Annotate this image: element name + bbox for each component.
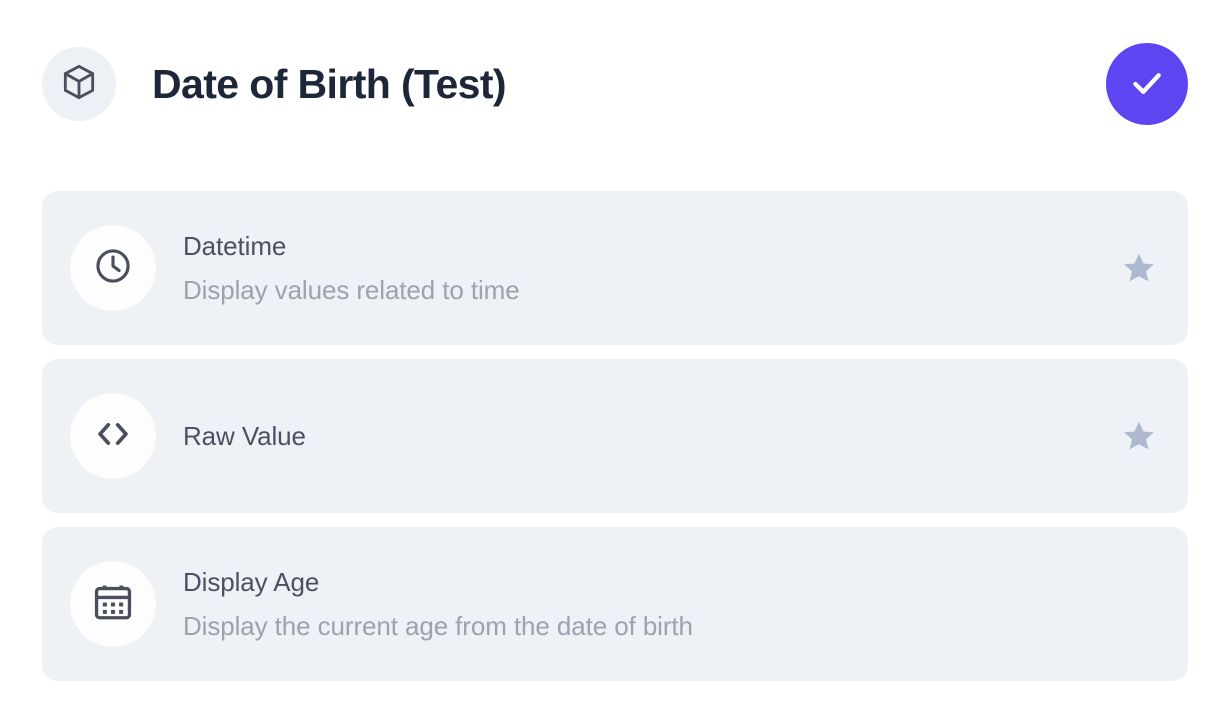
option-icon-container [70, 561, 156, 647]
code-brackets-icon [92, 413, 134, 460]
option-text-block: Display Age Display the current age from… [183, 566, 693, 643]
confirm-button[interactable] [1106, 43, 1188, 125]
cube-icon [59, 62, 99, 107]
option-item-datetime[interactable]: Datetime Display values related to time [42, 191, 1188, 345]
field-display-options-page: Date of Birth (Test) Datetime [0, 0, 1216, 704]
option-text-block: Raw Value [183, 420, 306, 453]
favorite-star-icon[interactable] [1120, 417, 1158, 455]
field-type-badge [42, 47, 116, 121]
option-icon-container [70, 393, 156, 479]
check-icon [1127, 63, 1167, 106]
calendar-icon [92, 581, 134, 628]
option-subtitle: Display the current age from the date of… [183, 610, 693, 643]
option-title: Display Age [183, 566, 693, 599]
option-item-raw-value[interactable]: Raw Value [42, 359, 1188, 513]
page-title: Date of Birth (Test) [152, 61, 506, 108]
favorite-star-icon[interactable] [1120, 249, 1158, 287]
option-item-display-age[interactable]: Display Age Display the current age from… [42, 527, 1188, 681]
display-option-list: Datetime Display values related to time [42, 191, 1188, 695]
option-title: Datetime [183, 230, 520, 263]
option-icon-container [70, 225, 156, 311]
option-text-block: Datetime Display values related to time [183, 230, 520, 307]
option-title: Raw Value [183, 420, 306, 453]
clock-icon [92, 245, 134, 292]
page-header: Date of Birth (Test) [42, 40, 1188, 128]
option-subtitle: Display values related to time [183, 274, 520, 307]
